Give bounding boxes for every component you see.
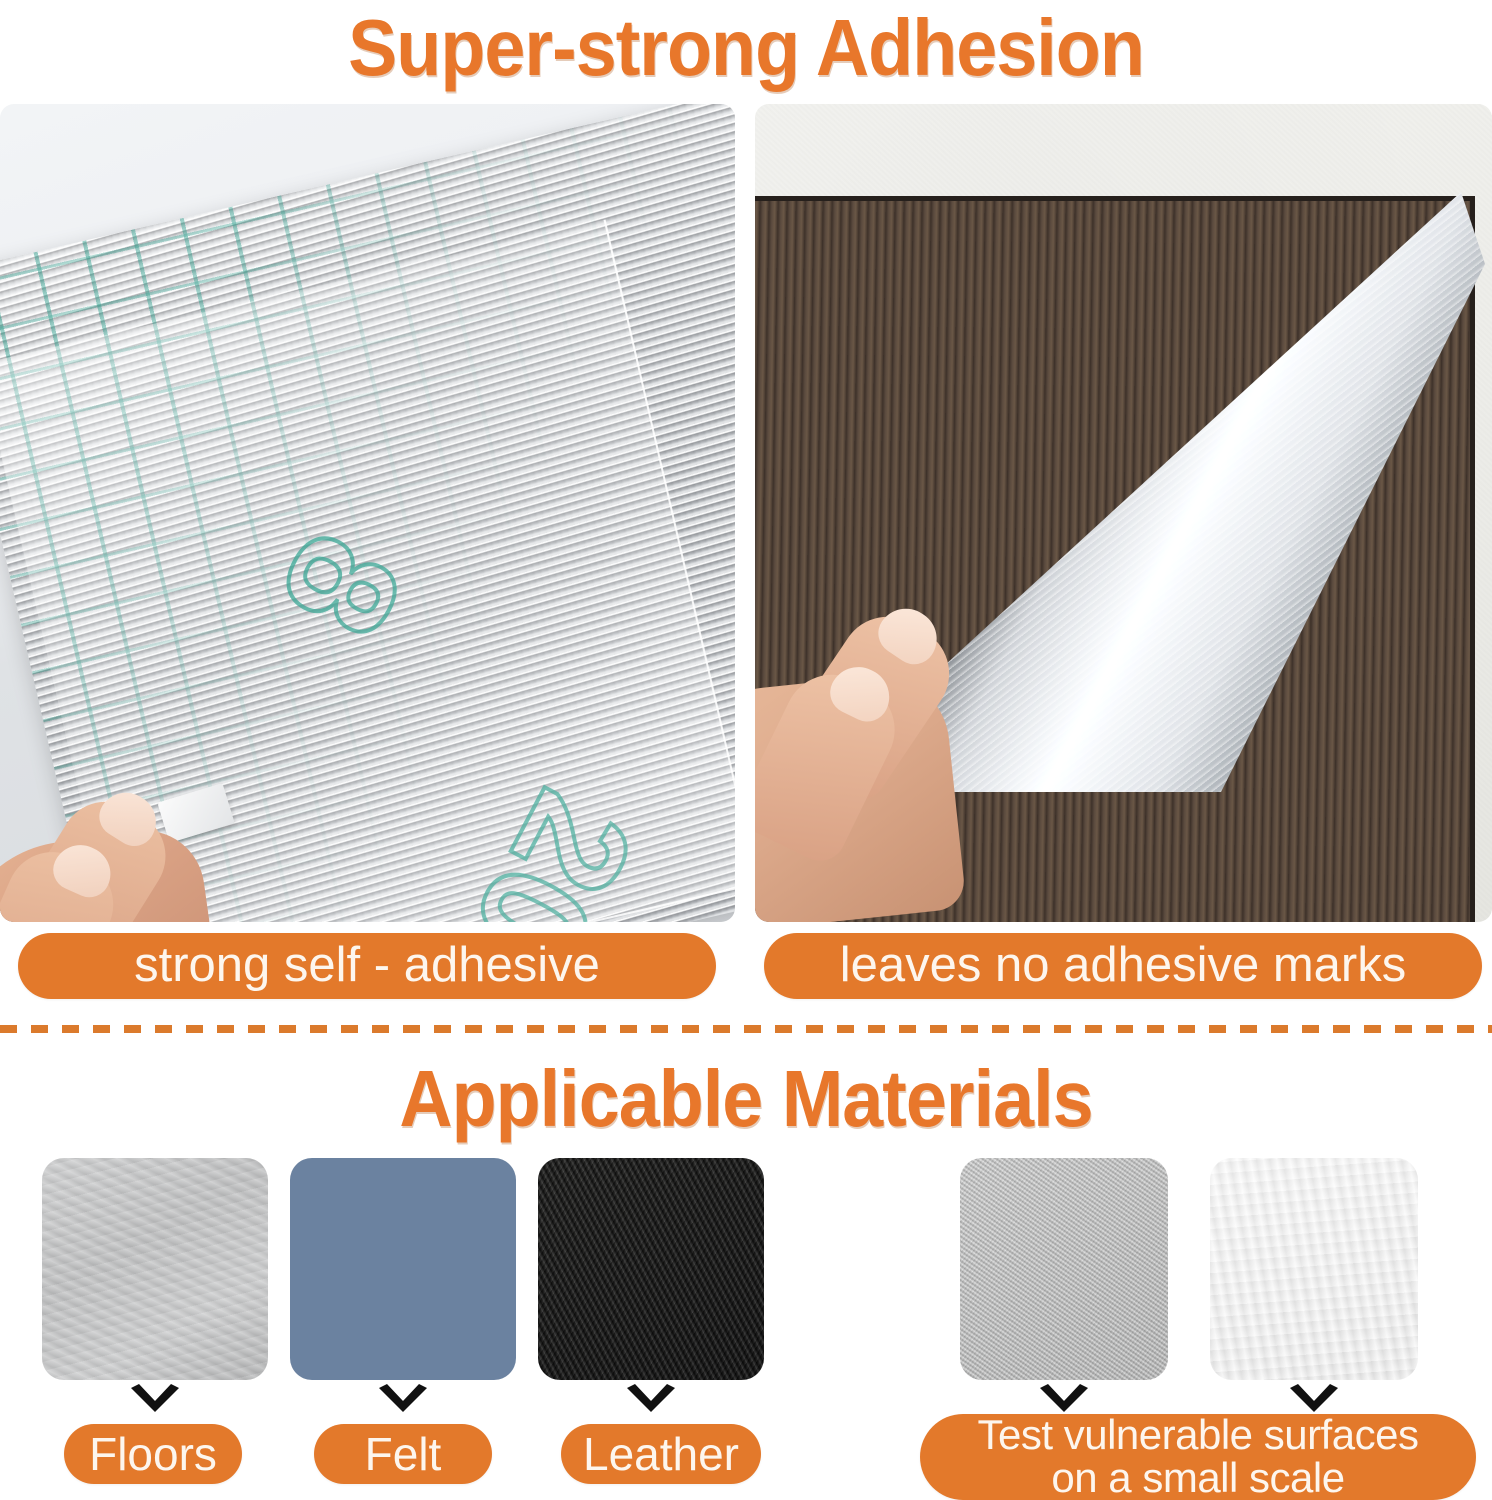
plaster-wall-swatch	[1210, 1158, 1418, 1380]
product-infographic-page: Super-strong Adhesion 8 20	[0, 0, 1492, 1500]
floors-swatch	[42, 1158, 268, 1380]
felt-swatch	[290, 1158, 516, 1380]
chevron-down-icon	[127, 1384, 183, 1418]
foil-sheet-peel-photo: 8 20	[0, 104, 735, 922]
caption-badge-strong-self-adhesive: strong self - adhesive	[18, 933, 716, 999]
material-label-leather: Leather	[561, 1424, 761, 1484]
page-title-adhesion: Super-strong Adhesion	[60, 0, 1433, 98]
chevron-down-icon	[375, 1384, 431, 1418]
page-title-materials: Applicable Materials	[60, 1049, 1433, 1149]
hand-lifting-carpet-corner	[755, 604, 1035, 922]
material-label-test-vulnerable-surfaces: Test vulnerable surfaces on a small scal…	[920, 1414, 1476, 1500]
leather-swatch	[538, 1158, 764, 1380]
caption-badge-leaves-no-adhesive-marks: leaves no adhesive marks	[764, 933, 1482, 999]
carpet-foil-backing-photo	[755, 104, 1492, 922]
chevron-down-icon	[623, 1384, 679, 1418]
section-divider	[0, 1025, 1492, 1033]
material-label-felt: Felt	[314, 1424, 492, 1484]
hand-peeling-liner	[0, 780, 260, 922]
stucco-wall-swatch	[960, 1158, 1168, 1380]
material-label-floors: Floors	[64, 1424, 242, 1484]
